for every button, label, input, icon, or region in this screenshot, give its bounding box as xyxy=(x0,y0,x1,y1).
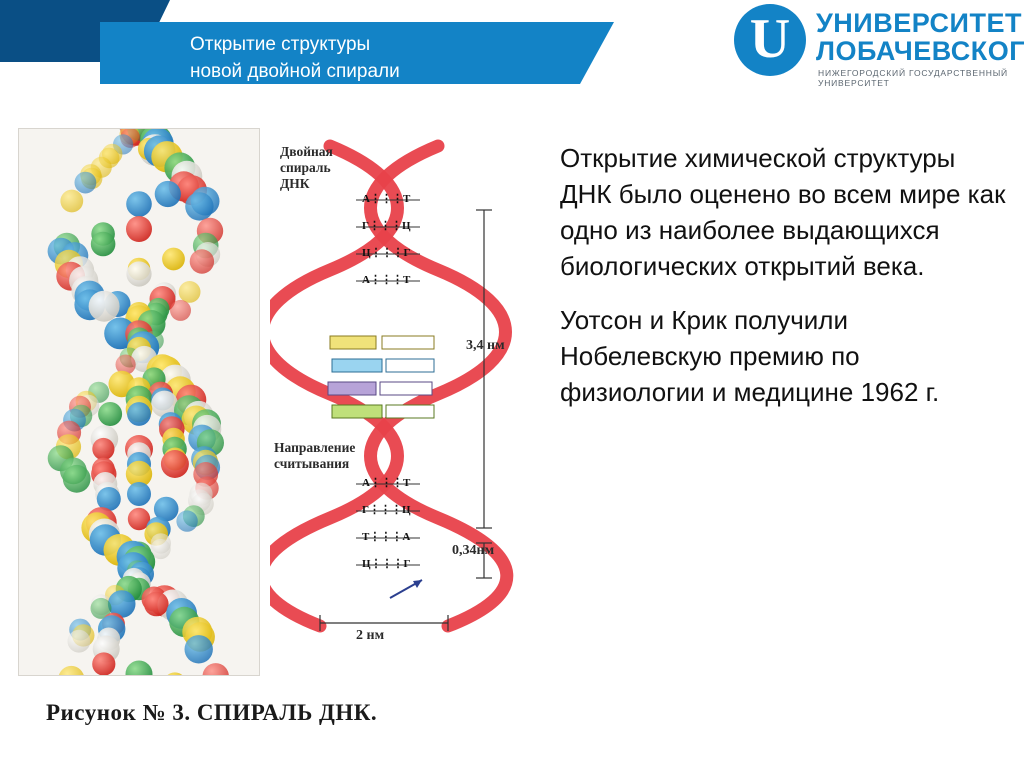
diagram-label-helix: Двойная спираль ДНК xyxy=(280,144,333,192)
dna-schematic-diagram: Двойная спираль ДНК Направление считыван… xyxy=(270,128,534,648)
dimension-width: 2 нм xyxy=(356,628,384,644)
dimension-height: 3,4 нм xyxy=(466,338,505,354)
logo-line-2: ЛОБАЧЕВСКОГО xyxy=(816,36,1024,67)
paragraph-2: Уотсон и Крик получили Нобелевскую преми… xyxy=(560,302,1010,410)
base-pair-label: А⋮⋮⋮Т xyxy=(362,192,410,205)
paragraph-1: Открытие химической структуры ДНК было о… xyxy=(560,140,1010,284)
base-pair-label: А⋮⋮⋮Т xyxy=(362,273,410,286)
base-pair-label: А⋮⋮⋮Т xyxy=(362,476,410,489)
logo-line-3: НИЖЕГОРОДСКИЙ ГОСУДАРСТВЕННЫЙ УНИВЕРСИТЕ… xyxy=(818,68,1024,88)
logo-circle-icon: U xyxy=(734,4,806,76)
logo-letter: U xyxy=(734,4,806,76)
base-pair-label: Ц⋮⋮⋮Г xyxy=(362,557,411,570)
slide-body-text: Открытие химической структуры ДНК было о… xyxy=(560,140,1010,428)
dna-space-filling-photo xyxy=(18,128,260,676)
base-pair-label: Г⋮⋮⋮Ц xyxy=(362,503,411,516)
slide-title: Открытие структуры новой двойной спирали… xyxy=(190,31,520,112)
diagram-label-direction: Направление считывания xyxy=(274,440,355,472)
figure-block: Двойная спираль ДНК Направление считыван… xyxy=(18,128,534,688)
university-logo: U УНИВЕРСИТЕТ ЛОБАЧЕВСКОГО НИЖЕГОРОДСКИЙ… xyxy=(734,0,1024,92)
dna-photo-graphic xyxy=(19,129,259,675)
dimension-step: 0,34нм xyxy=(452,543,494,559)
base-pair-label: Ц⋮⋮⋮Г xyxy=(362,246,411,259)
figure-caption: Рисунок № 3. СПИРАЛЬ ДНК. xyxy=(46,700,377,726)
base-pair-label: Т⋮⋮⋮А xyxy=(362,530,410,543)
dna-schematic-graphic xyxy=(270,128,534,658)
logo-line-1: УНИВЕРСИТЕТ xyxy=(816,8,1022,39)
base-pair-label: Г⋮⋮⋮Ц xyxy=(362,219,411,232)
